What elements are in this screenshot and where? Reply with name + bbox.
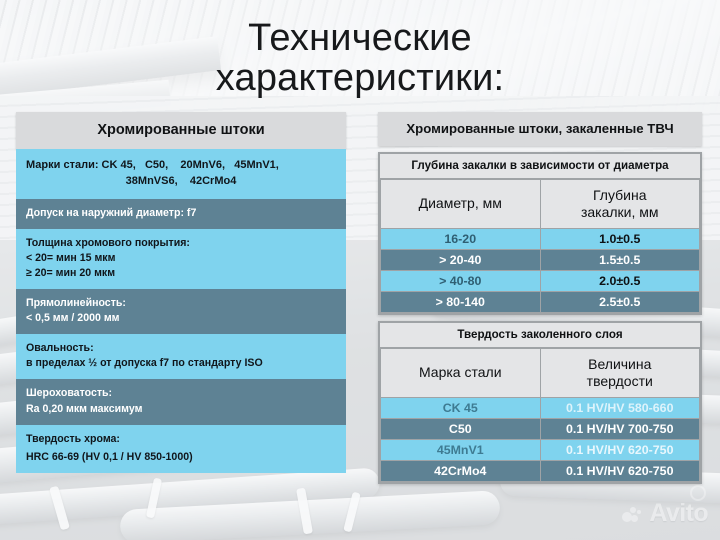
- cell-hardness: 0.1 HV/HV 620-750: [540, 461, 700, 482]
- hardening-depth-table: Диаметр, мм Глубина закалки, мм 16-20 1.…: [380, 179, 700, 313]
- table-row: > 80-140 2.5±0.5: [381, 292, 700, 313]
- cell-steel-grade: CK 45: [381, 398, 541, 419]
- table-row: > 40-80 2.0±0.5: [381, 271, 700, 292]
- spec-line: Толщина хромового покрытия:: [26, 236, 336, 251]
- table-row: > 20-40 1.5±0.5: [381, 250, 700, 271]
- spec-line: в пределах ½ от допуска f7 по стандарту …: [26, 356, 336, 371]
- cell-steel-grade: 42CrMo4: [381, 461, 541, 482]
- table-row: CK 45 0.1 HV/HV 580-660: [381, 398, 700, 419]
- surface-hardness-table-wrapper: Твердость заколенного слоя Марка стали В…: [378, 321, 702, 484]
- chrome-rods-spec-panel: Хромированные штоки Марки стали: CK 45, …: [16, 112, 346, 473]
- page-title: Технические характеристики:: [0, 18, 720, 99]
- spec-row-chrome-hardness: Твердость хрома: HRC 66-69 (HV 0,1 / HV …: [16, 425, 346, 473]
- surface-hardness-table: Марка стали Величина твердости CK 45 0.1…: [380, 348, 700, 482]
- spec-line: 38MnVS6, 42CrMo4: [26, 174, 336, 190]
- spec-line: Овальность:: [26, 341, 336, 356]
- spec-line: Допуск на наружний диаметр: f7: [26, 207, 196, 219]
- cell-hardness: 0.1 HV/HV 620-750: [540, 440, 700, 461]
- table-row: 45MnV1 0.1 HV/HV 620-750: [381, 440, 700, 461]
- spec-row-outer-diameter-tolerance: Допуск на наружний диаметр: f7: [16, 199, 346, 229]
- column-header-diameter: Диаметр, мм: [381, 180, 541, 229]
- table-row: 16-20 1.0±0.5: [381, 229, 700, 250]
- induction-hardened-rods-panel: Хромированные штоки, закаленные ТВЧ Глуб…: [378, 112, 702, 484]
- column-header-hardness-value: Величина твердости: [540, 349, 700, 398]
- cell-depth: 2.0±0.5: [540, 271, 700, 292]
- spec-line: ≥ 20= мин 20 мкм: [26, 266, 336, 281]
- column-header-depth: Глубина закалки, мм: [540, 180, 700, 229]
- cell-diameter: > 80-140: [381, 292, 541, 313]
- spec-line: Прямолинейность:: [26, 296, 336, 311]
- column-header-depth-line-2: закалки, мм: [544, 204, 697, 221]
- watermark-ring-icon: [690, 485, 706, 501]
- hardening-depth-table-title: Глубина закалки в зависимости от диаметр…: [380, 154, 700, 179]
- spec-row-chrome-thickness: Толщина хромового покрытия: < 20= мин 15…: [16, 229, 346, 289]
- column-header-hardness-line-2: твердости: [544, 373, 697, 390]
- table-header-row: Марка стали Величина твердости: [381, 349, 700, 398]
- hardening-depth-table-wrapper: Глубина закалки в зависимости от диаметр…: [378, 152, 702, 315]
- cell-diameter: > 40-80: [381, 271, 541, 292]
- surface-hardness-table-title: Твердость заколенного слоя: [380, 323, 700, 348]
- spec-line: Шероховатость:: [26, 386, 336, 401]
- spec-line: < 20= мин 15 мкм: [26, 251, 336, 266]
- spec-row-steel-grades: Марки стали: CK 45, C50, 20MnV6, 45MnV1,…: [16, 149, 346, 199]
- table-row: 42CrMo4 0.1 HV/HV 620-750: [381, 461, 700, 482]
- avito-dots-logo-icon: [622, 504, 644, 524]
- cell-diameter: 16-20: [381, 229, 541, 250]
- spec-row-straightness: Прямолинейность: < 0,5 мм / 2000 мм: [16, 289, 346, 334]
- column-header-hardness-line-1: Величина: [544, 356, 697, 373]
- avito-watermark: Avito: [622, 501, 708, 526]
- left-panel-header: Хромированные штоки: [16, 112, 346, 149]
- cell-steel-grade: C50: [381, 419, 541, 440]
- spec-row-ovality: Овальность: в пределах ½ от допуска f7 п…: [16, 334, 346, 379]
- spec-line: HRC 66-69 (HV 0,1 / HV 850-1000): [26, 447, 336, 465]
- right-panel-header: Хромированные штоки, закаленные ТВЧ: [378, 112, 702, 146]
- cell-hardness: 0.1 HV/HV 700-750: [540, 419, 700, 440]
- cell-depth: 1.0±0.5: [540, 229, 700, 250]
- spec-line: Марки стали: CK 45, C50, 20MnV6, 45MnV1,: [26, 159, 279, 171]
- table-row: C50 0.1 HV/HV 700-750: [381, 419, 700, 440]
- spec-line: < 0,5 мм / 2000 мм: [26, 311, 336, 326]
- column-header-steel-grade: Марка стали: [381, 349, 541, 398]
- page-title-line-2: характеристики:: [0, 58, 720, 98]
- page-title-line-1: Технические: [248, 17, 472, 59]
- column-header-depth-line-1: Глубина: [544, 187, 697, 204]
- watermark-label: Avito: [649, 501, 708, 526]
- cell-depth: 1.5±0.5: [540, 250, 700, 271]
- cell-steel-grade: 45MnV1: [381, 440, 541, 461]
- table-header-row: Диаметр, мм Глубина закалки, мм: [381, 180, 700, 229]
- cell-diameter: > 20-40: [381, 250, 541, 271]
- cell-hardness: 0.1 HV/HV 580-660: [540, 398, 700, 419]
- spec-line: Ra 0,20 мкм максимум: [26, 402, 336, 417]
- spec-row-roughness: Шероховатость: Ra 0,20 мкм максимум: [16, 379, 346, 424]
- cell-depth: 2.5±0.5: [540, 292, 700, 313]
- spec-line: Твердость хрома:: [26, 432, 336, 447]
